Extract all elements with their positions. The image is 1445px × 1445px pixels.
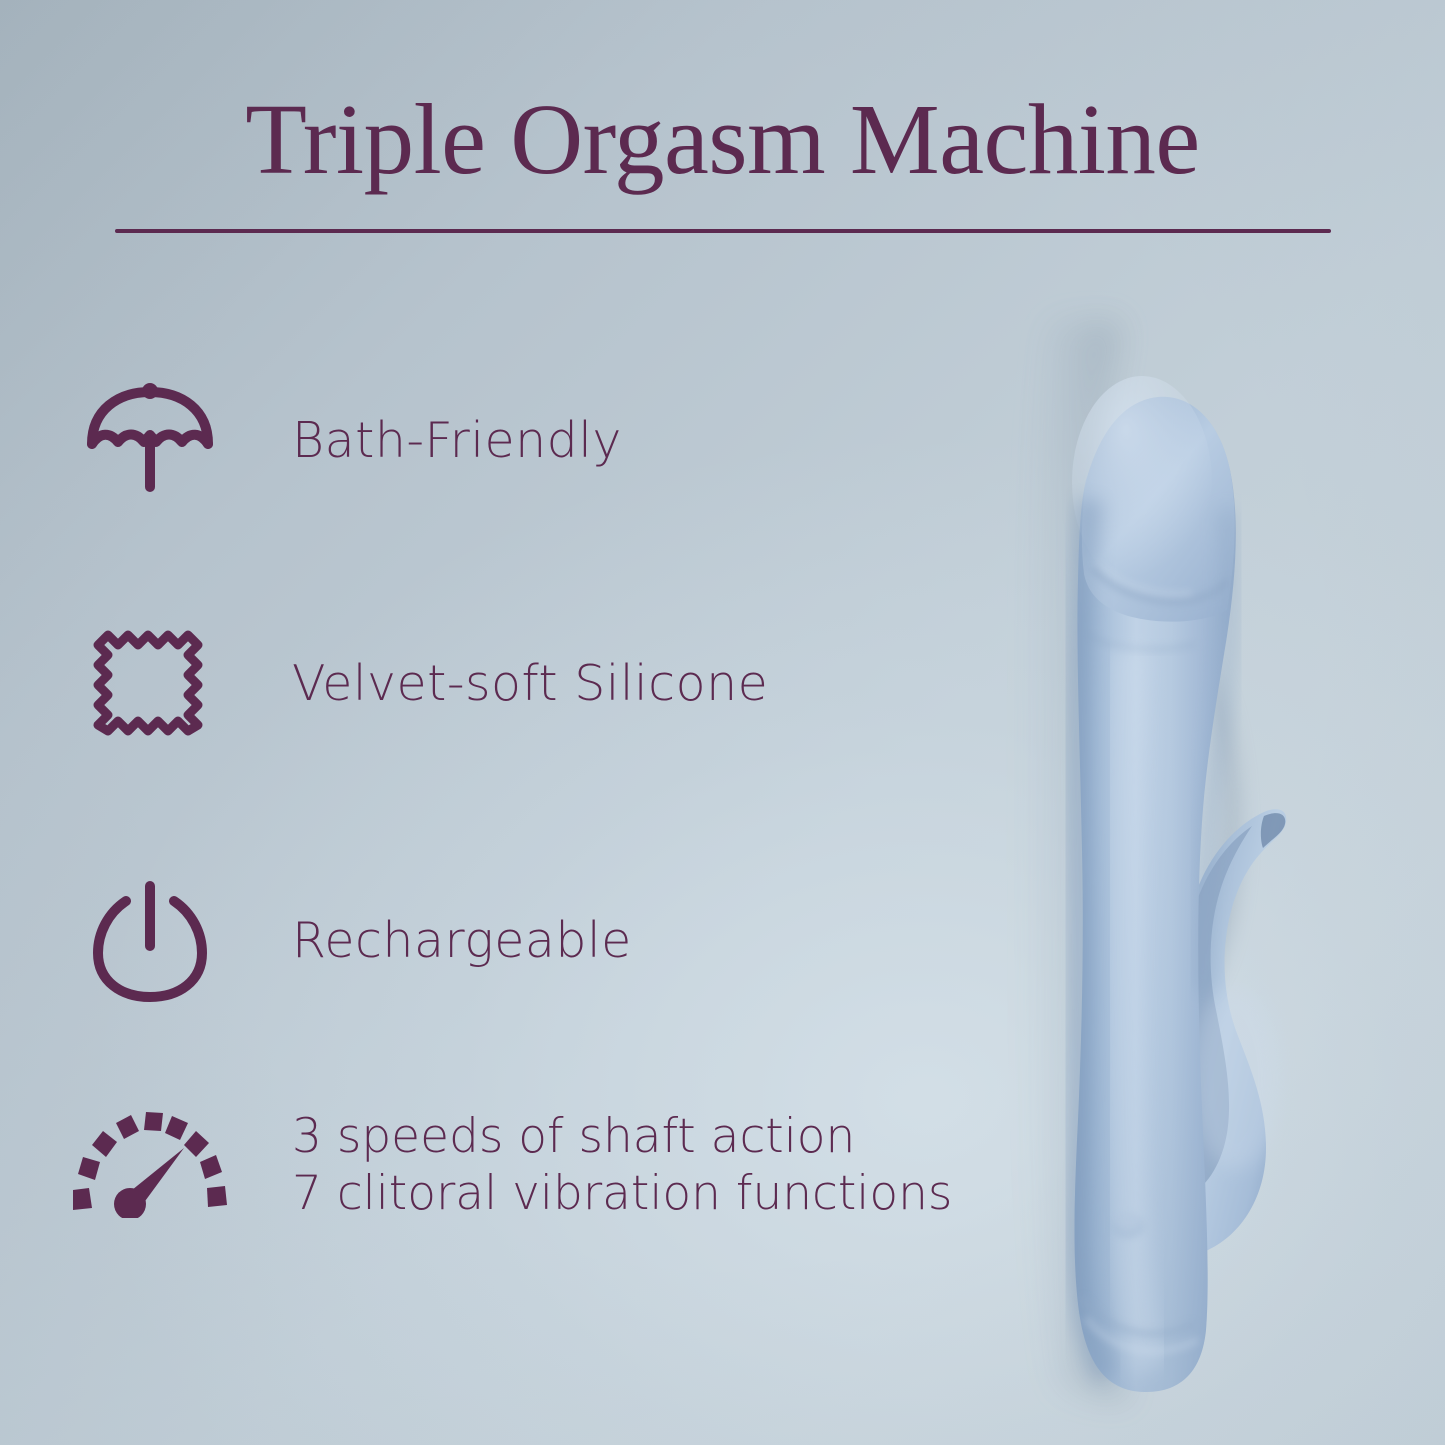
feature-label: Rechargeable xyxy=(292,912,632,969)
feature-label-line-1: 3 speeds of shaft action xyxy=(292,1108,952,1165)
feature-list: Bath-Friendly Velvet-soft Silicone Recha… xyxy=(0,0,1000,1445)
speedometer-icon xyxy=(70,1090,230,1240)
feature-label-multiline: 3 speeds of shaft action 7 clitoral vibr… xyxy=(292,1108,952,1223)
fabric-swatch-icon xyxy=(70,608,230,758)
feature-item-bath-friendly: Bath-Friendly xyxy=(70,365,622,515)
feature-label-line-2: 7 clitoral vibration functions xyxy=(292,1165,952,1222)
feature-item-speeds: 3 speeds of shaft action 7 clitoral vibr… xyxy=(70,1090,952,1240)
feature-label: Bath-Friendly xyxy=(292,412,622,469)
feature-label: Velvet-soft Silicone xyxy=(292,655,768,712)
umbrella-icon xyxy=(70,365,230,515)
feature-item-rechargeable: Rechargeable xyxy=(70,865,632,1015)
feature-item-silicone: Velvet-soft Silicone xyxy=(70,608,768,758)
power-icon xyxy=(70,865,230,1015)
product-image xyxy=(930,250,1430,1445)
infographic-canvas: Triple Orgasm Machine Bath-Friendly xyxy=(0,0,1445,1445)
